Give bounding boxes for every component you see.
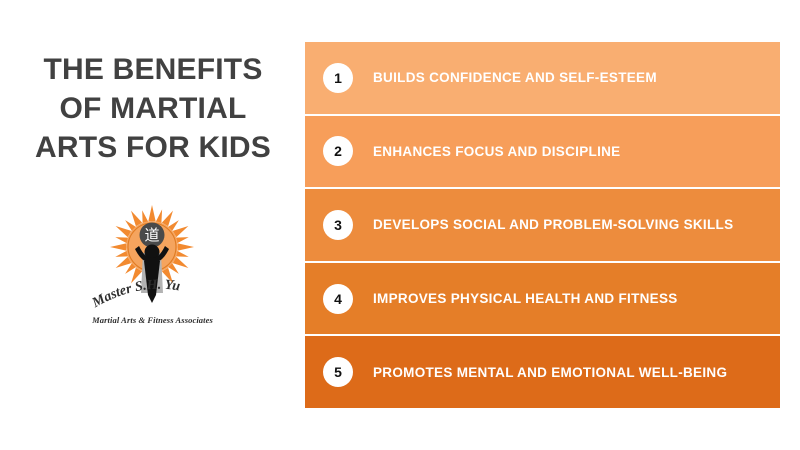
brand-name-arc: Master S.H. Yu	[85, 279, 220, 315]
benefit-row-3[interactable]: 3 DEVELOPS SOCIAL AND PROBLEM-SOLVING SK…	[305, 189, 780, 261]
benefit-label-1: BUILDS CONFIDENCE AND SELF-ESTEEM	[373, 70, 657, 85]
svg-text:道: 道	[144, 226, 159, 244]
page-title: THE BENEFITS OF MARTIAL ARTS FOR KIDS	[18, 50, 288, 167]
brand-name-text: Master S.H. Yu	[89, 279, 181, 312]
svg-text:Master S.H. Yu: Master S.H. Yu	[89, 279, 181, 312]
benefit-label-2: ENHANCES FOCUS AND DISCIPLINE	[373, 144, 620, 159]
benefit-number-badge-3: 3	[323, 210, 353, 240]
benefit-number-badge-2: 2	[323, 136, 353, 166]
benefit-row-4[interactable]: 4 IMPROVES PHYSICAL HEALTH AND FITNESS	[305, 263, 780, 335]
benefit-label-4: IMPROVES PHYSICAL HEALTH AND FITNESS	[373, 291, 678, 306]
left-panel: THE BENEFITS OF MARTIAL ARTS FOR KIDS	[0, 0, 300, 450]
infographic-canvas: THE BENEFITS OF MARTIAL ARTS FOR KIDS	[0, 0, 800, 450]
benefit-row-1[interactable]: 1 BUILDS CONFIDENCE AND SELF-ESTEEM	[305, 42, 780, 114]
benefit-row-5[interactable]: 5 PROMOTES MENTAL AND EMOTIONAL WELL-BEI…	[305, 336, 780, 408]
benefit-row-2[interactable]: 2 ENHANCES FOCUS AND DISCIPLINE	[305, 116, 780, 188]
benefit-number-badge-4: 4	[323, 284, 353, 314]
benefit-number-badge-1: 1	[323, 63, 353, 93]
brand-logo: 道 Master S.H. Yu	[85, 203, 220, 338]
brand-tagline: Martial Arts & Fitness Associates	[85, 315, 220, 325]
benefit-label-3: DEVELOPS SOCIAL AND PROBLEM-SOLVING SKIL…	[373, 217, 733, 232]
benefit-number-badge-5: 5	[323, 357, 353, 387]
benefits-list: 1 BUILDS CONFIDENCE AND SELF-ESTEEM 2 EN…	[305, 42, 780, 408]
benefit-label-5: PROMOTES MENTAL AND EMOTIONAL WELL-BEING	[373, 365, 727, 380]
